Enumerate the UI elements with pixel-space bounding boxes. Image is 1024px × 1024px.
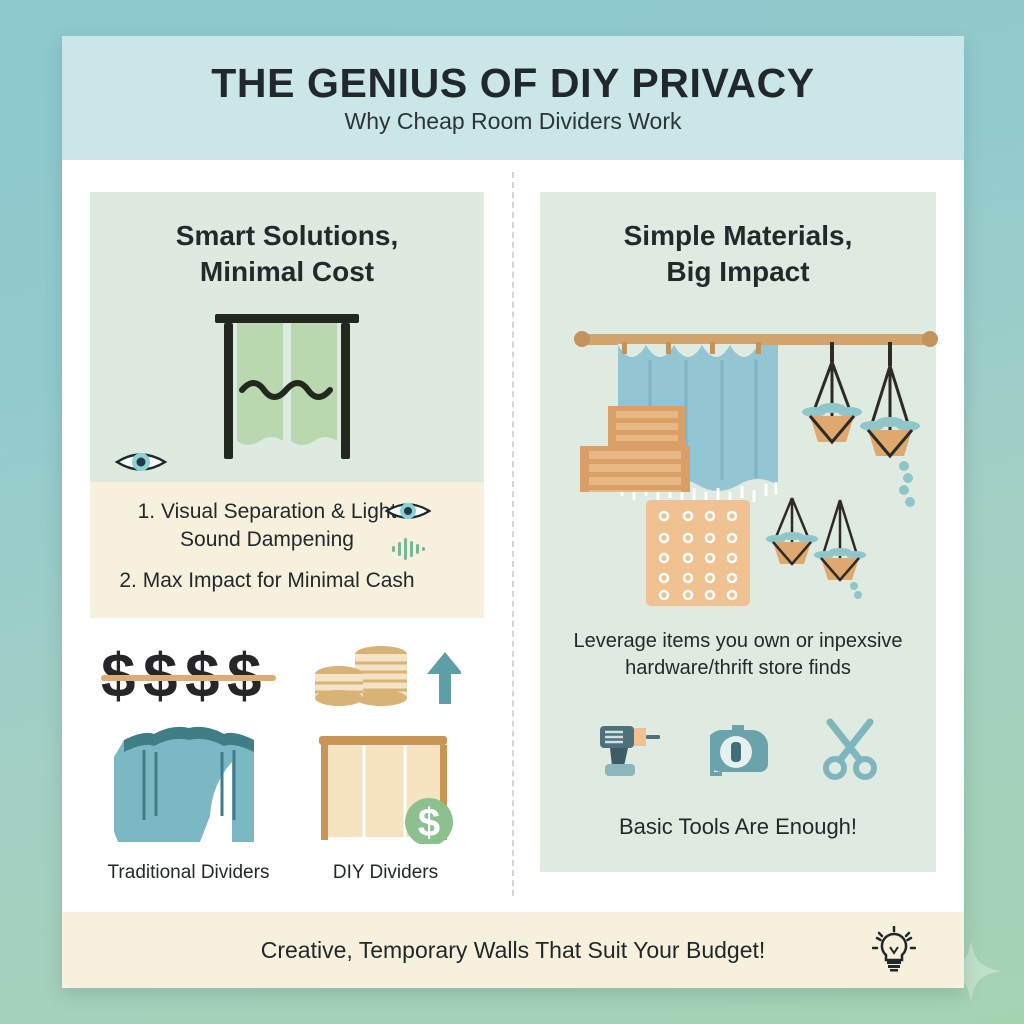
pegboard-icon	[646, 500, 750, 606]
comparison-label-diy: DIY Dividers	[287, 862, 484, 884]
svg-text:$: $	[418, 801, 440, 844]
left-list-panel: 1. Visual Separation & Light Sound Dampe…	[90, 482, 484, 618]
page-subtitle: Why Cheap Room Dividers Work	[344, 110, 681, 133]
sound-wave-icon	[390, 536, 428, 562]
right-panel: Simple Materials, Big Impact	[540, 192, 936, 872]
hanging-planters-icon	[756, 494, 886, 604]
footer-band: Creative, Temporary Walls That Suit Your…	[62, 912, 964, 988]
right-panel-title: Simple Materials, Big Impact	[558, 218, 918, 290]
curtain-on-rod-icon	[202, 304, 372, 472]
comparison-label-traditional: Traditional Dividers	[90, 862, 287, 884]
list-item: 2. Max Impact for Minimal Cash	[108, 567, 466, 595]
left-panel-title: Smart Solutions, Minimal Cost	[104, 218, 470, 290]
left-panel-title-line2: Minimal Cost	[200, 256, 374, 287]
right-panel-title-line1: Simple Materials,	[624, 220, 853, 251]
comparison-diy: $ DIY Dividers	[287, 638, 484, 884]
left-hero-panel: Smart Solutions, Minimal Cost	[90, 192, 484, 482]
scissors-icon	[820, 718, 880, 780]
tools-row	[558, 718, 918, 780]
right-panel-title-line2: Big Impact	[666, 256, 809, 287]
body-columns: Smart Solutions, Minimal Cost	[62, 160, 964, 912]
right-art-group	[558, 304, 918, 604]
traditional-curtain-icon	[114, 726, 264, 844]
infographic-card: THE GENIUS OF DIY PRIVACY Why Cheap Room…	[62, 36, 964, 988]
page-title: THE GENIUS OF DIY PRIVACY	[211, 63, 815, 104]
wooden-crates-icon	[572, 404, 702, 494]
comparison-traditional: $$ $$	[90, 638, 287, 884]
eye-icon-secondary	[384, 496, 432, 526]
lightbulb-icon	[872, 926, 916, 974]
right-column: Simple Materials, Big Impact	[512, 160, 964, 912]
tape-measure-icon	[710, 722, 772, 780]
left-column: Smart Solutions, Minimal Cost	[62, 160, 512, 912]
left-panel-title-line1: Smart Solutions,	[176, 220, 398, 251]
four-dollar-signs-struck-through-icon: $$ $$	[101, 643, 276, 711]
header-band: THE GENIUS OF DIY PRIVACY Why Cheap Room…	[62, 36, 964, 160]
diy-divider-icon: $	[313, 726, 458, 844]
drill-icon	[596, 718, 662, 780]
cost-comparison: $$ $$	[90, 638, 484, 884]
right-copy: Leverage items you own or inpexsive hard…	[558, 628, 918, 682]
tools-caption: Basic Tools Are Enough!	[558, 814, 918, 840]
eye-icon	[114, 446, 168, 478]
right-copy-line1: Leverage items you own or inpexsive	[573, 630, 902, 652]
right-copy-line2: hardware/thrift store finds	[625, 657, 851, 679]
footer-text: Creative, Temporary Walls That Suit Your…	[261, 937, 766, 964]
coin-stacks-up-arrow-icon	[311, 642, 461, 712]
